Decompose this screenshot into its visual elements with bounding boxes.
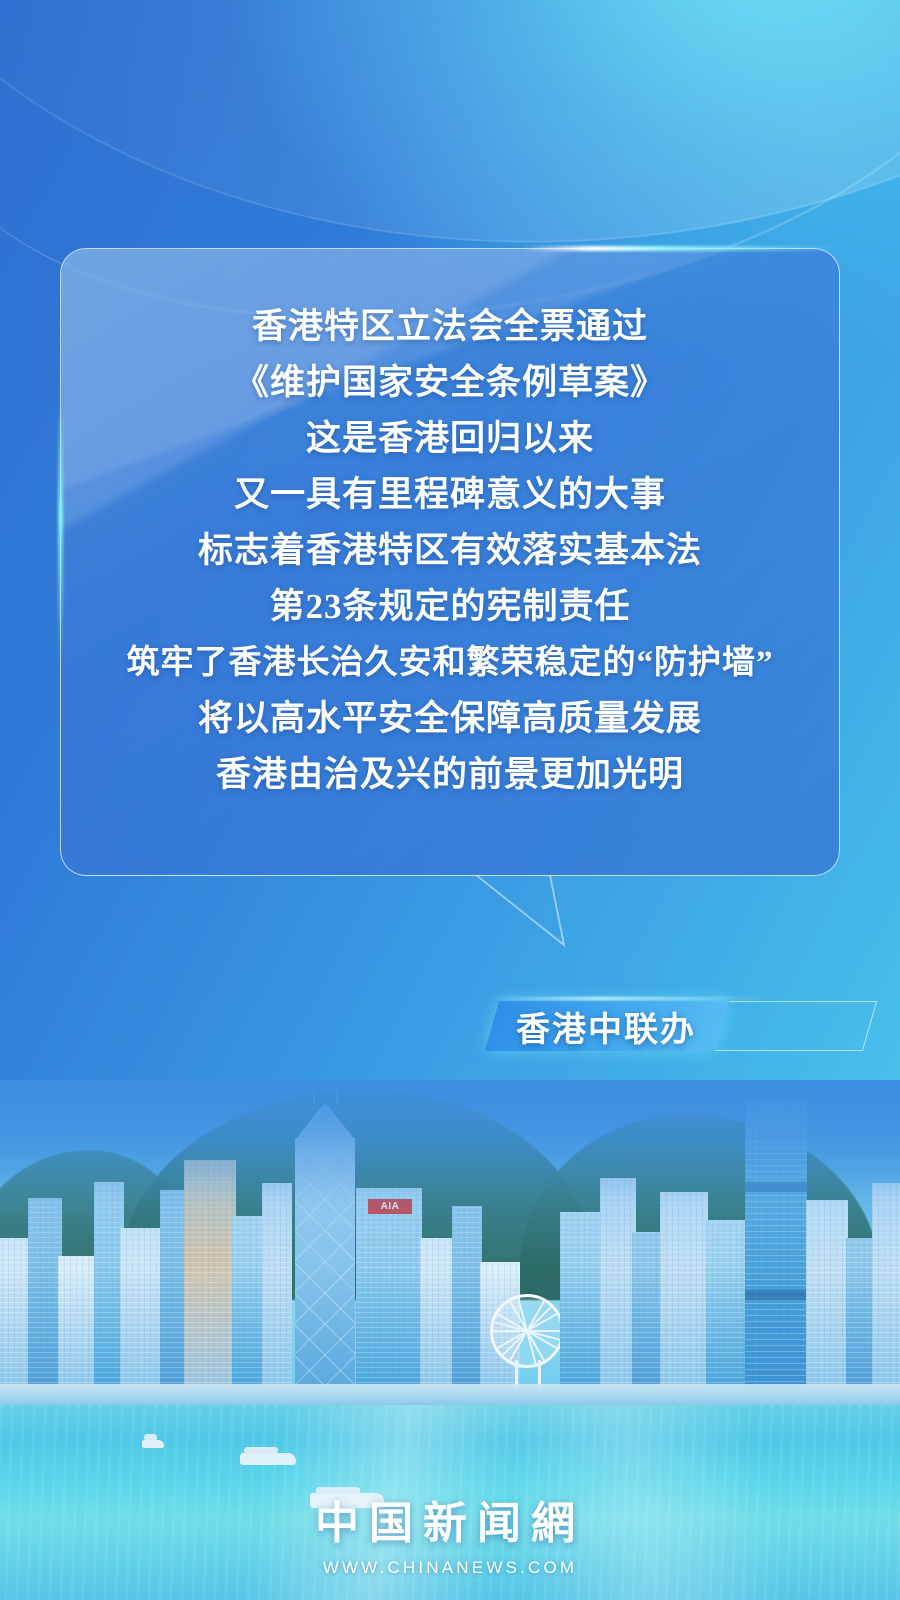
building [452,1206,482,1388]
building [120,1228,164,1388]
source-badge: 香港中联办 [470,995,890,1057]
building [600,1178,636,1388]
tower-band [745,1290,807,1300]
poster-root: AIA [0,0,900,1600]
quote-line: 又一具有里程碑意义的大事 [234,467,666,523]
tower-mast-icon [313,1080,315,1104]
star-ferry-boat [240,1453,296,1465]
card-top-glow [521,246,841,251]
building [420,1238,456,1388]
building [560,1212,604,1388]
speech-bubble-tail [476,875,576,947]
quote-text-block: 香港特区立法会全票通过 《维护国家安全条例草案》 这是香港回归以来 又一具有里程… [61,299,839,803]
quote-line: 筑牢了香港长治久安和繁荣稳定的“防护墙” [127,635,774,691]
building [262,1183,292,1388]
building [28,1198,62,1388]
chinanews-url: WWW.CHINANEWS.COM [0,1558,900,1578]
quote-line: 《维护国家安全条例草案》 [234,355,666,411]
building [706,1220,746,1388]
building [660,1192,708,1388]
two-ifc-tower [745,1080,807,1388]
aia-sign: AIA [368,1199,412,1214]
bank-of-china-tower [295,1138,355,1388]
building [632,1232,662,1388]
footer-logo-block: 中国新闻網 WWW.CHINANEWS.COM [0,1487,900,1578]
quote-line: 第23条规定的宪制责任 [269,579,630,635]
chinanews-logo-text: 中国新闻網 [0,1487,900,1551]
building [58,1256,98,1388]
quote-line: 标志着香港特区有效落实基本法 [198,523,702,579]
badge-top-glow [488,997,769,1000]
building [232,1216,266,1388]
tower-band [745,1090,807,1100]
ferris-wheel-spokes [490,1294,564,1368]
small-boat [142,1440,164,1448]
tower-band [745,1182,807,1192]
quote-line: 香港特区立法会全票通过 [252,299,648,355]
quote-line: 这是香港回归以来 [306,411,594,467]
building [872,1183,900,1388]
tower-mast-icon [336,1080,338,1104]
building-tan [184,1160,236,1388]
quote-line: 香港由治及兴的前景更加光明 [216,747,684,803]
badge-label: 香港中联办 [516,1001,696,1051]
aia-tower [356,1188,422,1388]
quote-line: 将以高水平安全保障高质量发展 [198,691,702,747]
building [806,1200,848,1388]
quote-card: 香港特区立法会全票通过 《维护国家安全条例草案》 这是香港回归以来 又一具有里程… [60,248,840,876]
